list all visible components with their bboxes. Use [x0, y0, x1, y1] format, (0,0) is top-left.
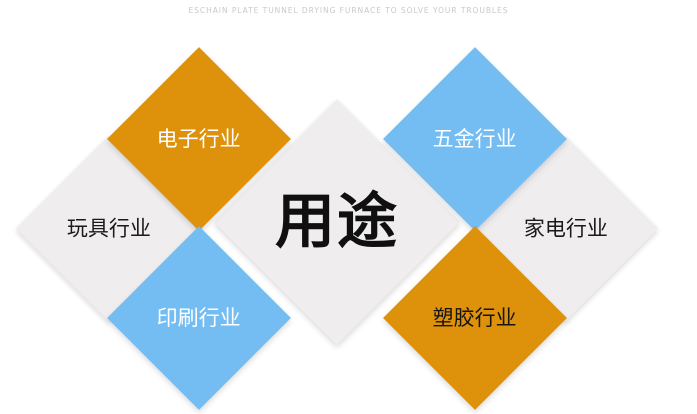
diamond-label-toys: 玩具行业	[67, 218, 151, 239]
diamond-label-plastics: 塑胶行业	[433, 308, 517, 329]
diamond-label-hardware: 五金行业	[433, 129, 517, 150]
page-banner-title: ESCHAIN PLATE TUNNEL DRYING FURNACE TO S…	[0, 6, 697, 15]
diamond-label-center: 用途	[275, 192, 399, 252]
banner-clipped-text: ESCHAIN PLATE TUNNEL DRYING FURNACE TO S…	[0, 0, 697, 2]
page-canvas: ESCHAIN PLATE TUNNEL DRYING FURNACE TO S…	[0, 0, 697, 414]
banner-clipped-strip: ESCHAIN PLATE TUNNEL DRYING FURNACE TO S…	[0, 0, 697, 4]
diamond-label-printing: 印刷行业	[157, 308, 241, 329]
diamond-label-appliance: 家电行业	[524, 218, 608, 239]
diamond-label-electronics: 电子行业	[157, 129, 241, 150]
